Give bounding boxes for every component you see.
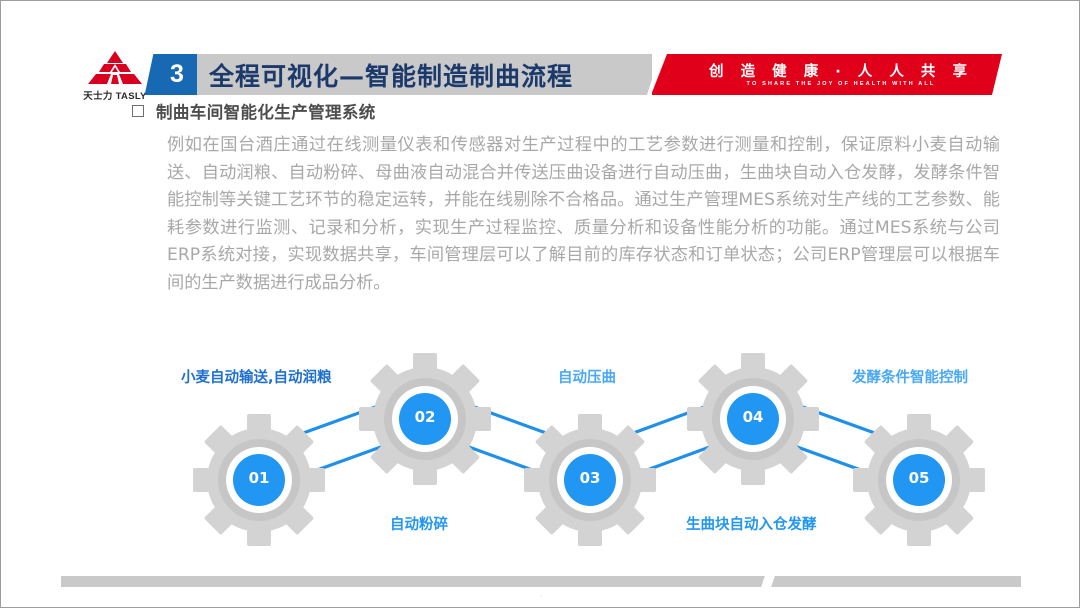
slide-canvas: 天士力 TASLY 3 全程可视化—智能制造制曲流程 创 造 健 康 · 人 人… (0, 0, 1080, 608)
slogan-english: TO SHARE THE JOY OF HEALTH WITH ALL (691, 81, 991, 87)
footer-bar (61, 576, 1021, 587)
node-label-02: 自动粉碎 (390, 513, 448, 534)
node-number-05: 05 (893, 469, 945, 487)
process-diagram: 01 02 03 04 05 小麦自动输送,自动润粮 自动粉碎 自动压曲 生曲块… (1, 331, 1080, 556)
node-number-04: 04 (727, 408, 779, 426)
node-label-01: 小麦自动输送,自动润粮 (181, 366, 332, 387)
page-title: 全程可视化—智能制造制曲流程 (209, 54, 573, 95)
bullet-heading-row: 制曲车间智能化生产管理系统 (132, 99, 376, 123)
square-bullet-icon (132, 105, 144, 117)
footer-bar-notch (761, 576, 775, 587)
node-label-04: 生曲块自动入仓发酵 (686, 513, 817, 534)
node-number-03: 03 (564, 469, 616, 487)
section-heading: 制曲车间智能化生产管理系统 (156, 99, 376, 123)
node-label-03: 自动压曲 (558, 366, 616, 387)
node-number-02: 02 (399, 408, 451, 426)
node-label-05: 发酵条件智能控制 (852, 366, 968, 387)
slide-header: 天士力 TASLY 3 全程可视化—智能制造制曲流程 创 造 健 康 · 人 人… (1, 23, 1080, 71)
body-paragraph: 例如在国台酒庄通过在线测量仪表和传感器对生产过程中的工艺参数进行测量和控制，保证… (167, 132, 1000, 297)
slogan-chinese: 创 造 健 康 · 人 人 共 享 (691, 60, 991, 81)
node-number-01: 01 (233, 469, 285, 487)
page-marker: · (1, 593, 1080, 600)
